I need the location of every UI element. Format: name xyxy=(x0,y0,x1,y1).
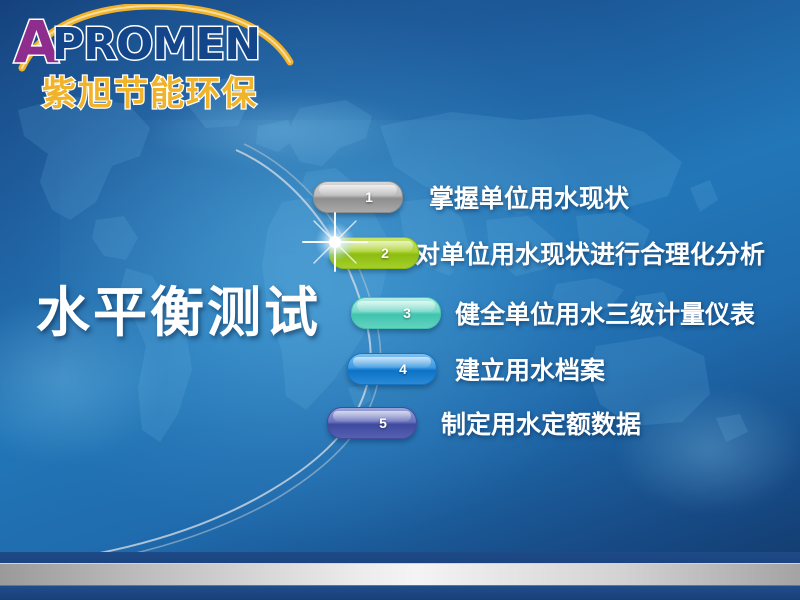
list-item[interactable]: 1 掌握单位用水现状 xyxy=(313,179,629,215)
step-badge-5[interactable]: 5 xyxy=(327,407,417,439)
step-number: 3 xyxy=(403,305,411,321)
step-number: 1 xyxy=(365,189,373,205)
presentation-slide: A PROMEN 紫旭节能环保 水平衡测试 1 掌握单位用水现状 2 对单位用水… xyxy=(0,0,800,600)
step-badge-2[interactable]: 2 xyxy=(329,237,419,269)
list-item[interactable]: 5 制定用水定额数据 xyxy=(327,405,641,441)
step-list: 1 掌握单位用水现状 2 对单位用水现状进行合理化分析 3 健全单位用水三级计量… xyxy=(0,0,800,600)
step-number: 4 xyxy=(399,361,407,377)
step-label: 掌握单位用水现状 xyxy=(429,179,629,215)
step-number: 5 xyxy=(379,415,387,431)
step-badge-3[interactable]: 3 xyxy=(351,297,441,329)
list-item[interactable]: 3 健全单位用水三级计量仪表 xyxy=(351,295,755,331)
list-item[interactable]: 2 对单位用水现状进行合理化分析 xyxy=(329,235,765,271)
footer-bar-top xyxy=(0,552,800,563)
footer-bars xyxy=(0,552,800,600)
step-label: 制定用水定额数据 xyxy=(441,405,641,441)
list-item[interactable]: 4 建立用水档案 xyxy=(347,351,605,387)
footer-bar-silver xyxy=(0,563,800,586)
footer-bar-bottom xyxy=(0,586,800,600)
step-badge-1[interactable]: 1 xyxy=(313,181,403,213)
step-number: 2 xyxy=(381,245,389,261)
step-label: 健全单位用水三级计量仪表 xyxy=(455,295,755,331)
step-label: 对单位用水现状进行合理化分析 xyxy=(415,235,765,271)
step-badge-4[interactable]: 4 xyxy=(347,353,437,385)
step-label: 建立用水档案 xyxy=(455,351,605,387)
